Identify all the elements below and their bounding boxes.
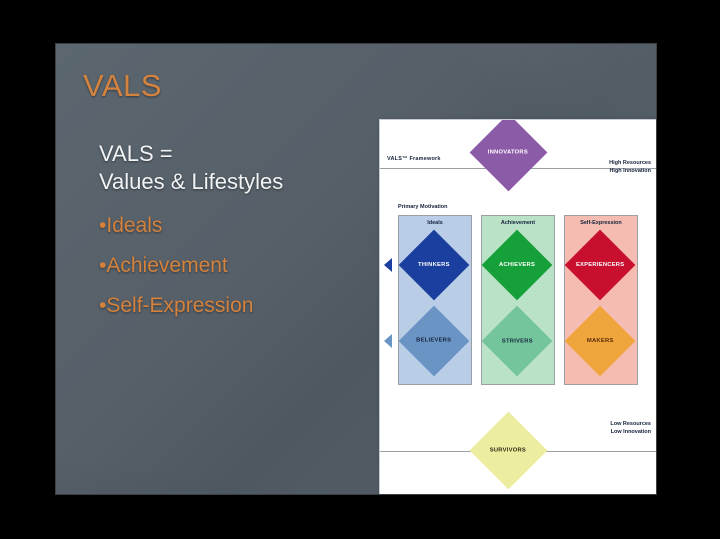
bullet-item-self-expression: •Self-Expression	[99, 295, 369, 316]
arrow-left-lower-icon	[384, 334, 392, 348]
column-header-achievement: Achievement	[482, 220, 554, 226]
segment-label: EXPERIENCERS	[576, 262, 624, 268]
bullet-item-achievement: •Achievement	[99, 255, 369, 276]
body-line-1: VALS =	[99, 140, 369, 168]
high-resources-label: High Resources High Innovation	[609, 160, 651, 176]
segment-survivors: SURVIVORS	[469, 412, 547, 490]
bullet-label: Achievement	[106, 254, 227, 277]
segment-label: BELIEVERS	[416, 338, 451, 344]
bullet-item-ideals: •Ideals	[99, 215, 369, 236]
low-resources-label: Low Resources Low Innovation	[610, 421, 651, 437]
presentation-slide: VALS VALS = Values & Lifestyles •Ideals …	[56, 44, 656, 494]
bullet-label: Ideals	[106, 214, 162, 237]
vals-framework-diagram: VALS™ Framework High Resources High Inno…	[379, 119, 656, 494]
segment-label: STRIVERS	[502, 338, 533, 344]
high-resources-line: High Resources	[609, 160, 651, 168]
column-header-ideals: Ideals	[399, 220, 471, 226]
low-resources-line: Low Resources	[610, 421, 651, 429]
segment-label: ACHIEVERS	[499, 262, 535, 268]
high-innovation-line: High Innovation	[609, 168, 651, 176]
slide-title: VALS	[83, 68, 162, 104]
low-innovation-line: Low Innovation	[610, 429, 651, 437]
framework-label: VALS™ Framework	[387, 156, 441, 162]
segment-innovators: INNOVATORS	[469, 119, 547, 191]
segment-label: THINKERS	[418, 262, 450, 268]
column-header-self-expression: Self-Expression	[565, 220, 637, 226]
segment-label: INNOVATORS	[488, 150, 528, 156]
primary-motivation-label: Primary Motivation	[398, 204, 448, 210]
slide-body: VALS = Values & Lifestyles •Ideals •Achi…	[99, 140, 369, 316]
body-line-2: Values & Lifestyles	[99, 168, 369, 196]
bullet-label: Self-Expression	[106, 294, 253, 317]
segment-label: MAKERS	[587, 338, 614, 344]
segment-label: SURVIVORS	[490, 447, 526, 453]
arrow-left-upper-icon	[384, 258, 392, 272]
video-frame: VALS VALS = Values & Lifestyles •Ideals …	[0, 0, 720, 539]
